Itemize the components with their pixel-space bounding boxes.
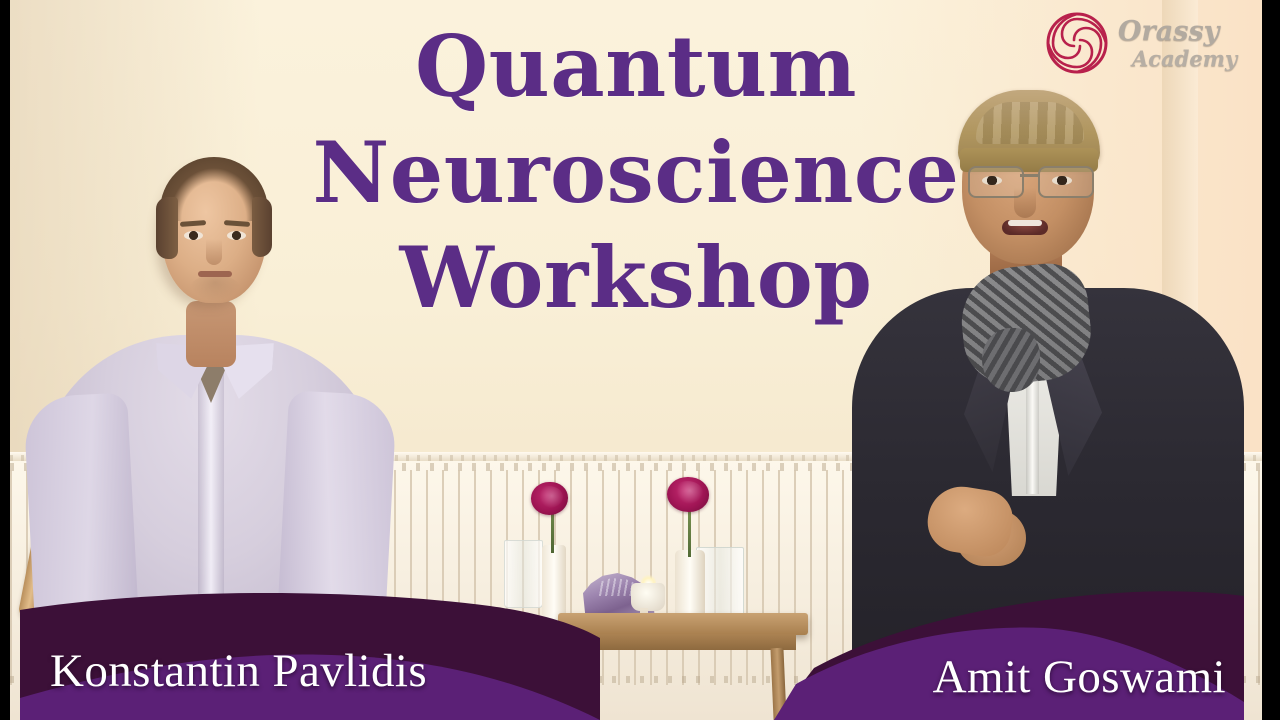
amit-glasses-bridge: [1020, 174, 1038, 177]
amit-cap-crease: [976, 102, 1084, 144]
konstantin-hair-right: [252, 197, 272, 257]
carnation-stem-right: [688, 505, 691, 557]
letterbox-bar-right: [1262, 0, 1280, 720]
amit-scarf-knot: [982, 328, 1040, 392]
side-table-apron: [568, 634, 796, 650]
video-player-frame: Quantum Neuroscience Workshop Orassy: [0, 0, 1280, 720]
logo-sub-text: Academy: [1132, 48, 1237, 69]
carnation-right-highlight: [672, 481, 703, 504]
amit-nose: [1014, 188, 1036, 218]
amit-eye-right: [1052, 176, 1072, 185]
orassy-academy-logo: Orassy Academy: [1042, 4, 1238, 82]
spiral-pinwheel-icon: [1042, 8, 1112, 78]
lower-third-left: Konstantin Pavlidis: [20, 580, 600, 720]
konstantin-eye-left: [184, 231, 203, 240]
lower-third-left-name: Konstantin Pavlidis: [50, 644, 427, 698]
lower-third-right-name: Amit Goswami: [933, 650, 1226, 704]
konstantin-eye-right: [227, 231, 246, 240]
amit-teeth: [1008, 220, 1042, 226]
amit-eye-left: [982, 176, 1002, 185]
video-content: Quantum Neuroscience Workshop Orassy: [10, 0, 1262, 720]
lower-third-right: Amit Goswami: [774, 580, 1244, 720]
candle-holder-cup: [631, 583, 665, 611]
konstantin-chin: [190, 275, 240, 301]
konstantin-neck: [186, 301, 236, 367]
logo-brand-text: Orassy: [1118, 18, 1237, 45]
letterbox-bar-left: [0, 0, 10, 720]
logo-wordmark: Orassy Academy: [1118, 18, 1237, 69]
konstantin-mouth: [198, 271, 232, 277]
konstantin-nose: [206, 239, 222, 265]
carnation-left-highlight: [535, 486, 563, 508]
konstantin-hair-left: [156, 197, 178, 259]
